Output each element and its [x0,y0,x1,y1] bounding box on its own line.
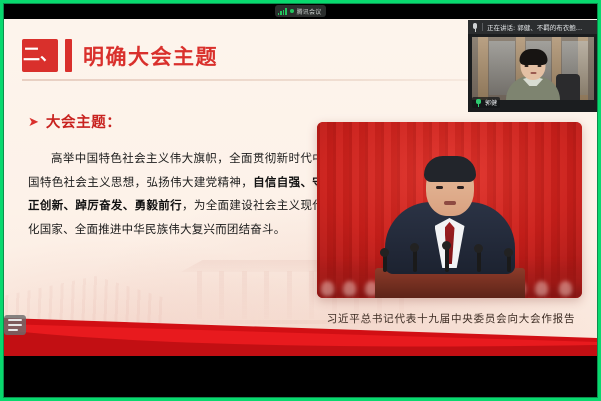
watermark-left-pattern [4,276,164,336]
speaker-photo [317,122,582,298]
letterbox-bottom [3,356,598,398]
participant-figure [506,54,560,100]
list-menu-icon[interactable] [4,315,26,335]
os-status-bar: 腾讯会议 [3,3,598,19]
signal-bars-icon [278,8,287,15]
video-feed [472,37,594,100]
screen-share-status-pill[interactable]: 腾讯会议 [275,5,327,17]
speaking-label: 正在讲话: 郭健、不羁的布衣鲍… [487,22,582,32]
participant-video-window[interactable]: 正在讲话: 郭健、不羁的布衣鲍… 郭健 [468,20,598,112]
slide-text-column: ➤ 大会主题： 高举中国特色社会主义伟大旗帜，全面贯彻新时代中国特色社会主义思想… [28,111,324,241]
participant-name: 郭健 [485,98,497,107]
speaking-indicator-bar: 正在讲话: 郭健、不羁的布衣鲍… [468,20,598,34]
divider [482,23,483,31]
screen-share-viewport: 腾讯会议 二、 明确大会主题 ➤ 大会主题： 高举中国特色社会主义伟大旗帜，全面… [0,0,601,401]
section-accent-bar [65,39,72,72]
slide-header: 二、 明确大会主题 [22,39,218,72]
status-app-label: 腾讯会议 [297,7,322,16]
subheading-label: 大会主题： [46,111,122,132]
slide-paragraph: 高举中国特色社会主义伟大旗帜，全面贯彻新时代中国特色社会主义思想，弘扬伟大建党精… [28,147,324,241]
microphone-on-icon [475,99,482,107]
microphone-icon [472,23,478,32]
participant-name-tag: 郭健 [472,97,500,108]
green-status-dot [290,9,294,13]
podium-microphones [375,242,525,272]
section-number-badge: 二、 [22,39,58,72]
photo-caption: 习近平总书记代表十九届中央委员会向大会作报告 [317,311,585,326]
subheading: ➤ 大会主题： [28,111,324,132]
page-title: 明确大会主题 [83,41,218,71]
arrow-bullet-icon: ➤ [28,115,39,128]
